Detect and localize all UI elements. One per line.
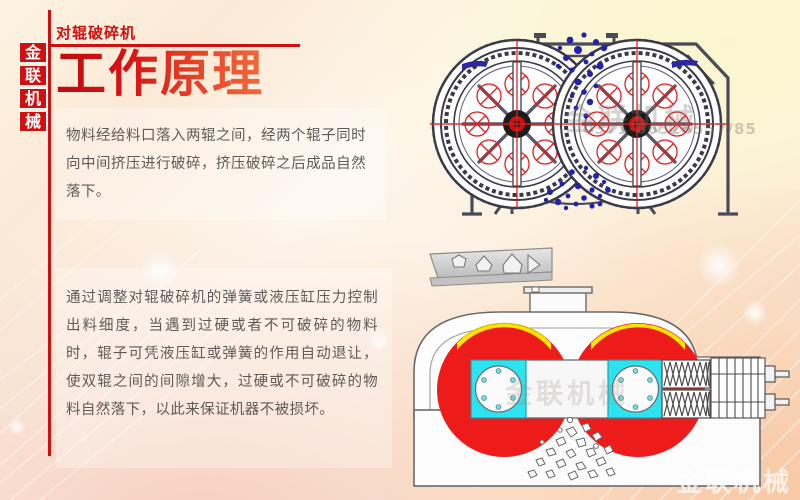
brand-logo-vertical: 金 联 机 械 — [19, 42, 47, 132]
logo-char-3: 机 — [19, 88, 47, 109]
adjust-bolts — [765, 366, 789, 410]
poster-canvas: 金 联 机 械 对辊破碎机 工作原理 物料经给料口落入两辊之间，经两个辊子同时向… — [0, 0, 800, 500]
paragraph-adjustment: 通过调整对辊破碎机的弹簧或液压缸压力控制出料细度，当遇到过硬或者不可破碎的物料时… — [66, 284, 378, 424]
bearing-right — [608, 360, 663, 418]
adjust-frame — [711, 358, 765, 418]
illustration-crusher-cutaway — [400, 232, 800, 500]
background-light-dot-5 — [8, 418, 26, 436]
bearing-left — [471, 360, 526, 418]
kicker-subtitle: 对辊破碎机 — [56, 22, 136, 43]
illustration-crusher-cross-section — [400, 0, 800, 228]
logo-char-2: 联 — [19, 65, 47, 86]
logo-char-4: 械 — [19, 111, 47, 132]
logo-char-1: 金 — [19, 42, 47, 63]
paragraph-working-principle: 物料经给料口落入两辊之间，经两个辊子同时向中间挤压进行破碎，挤压破碎之后成品自然… — [66, 122, 366, 206]
page-title: 工作原理 — [56, 48, 264, 101]
feed-chute — [430, 248, 552, 286]
left-vertical-rule — [48, 10, 51, 456]
